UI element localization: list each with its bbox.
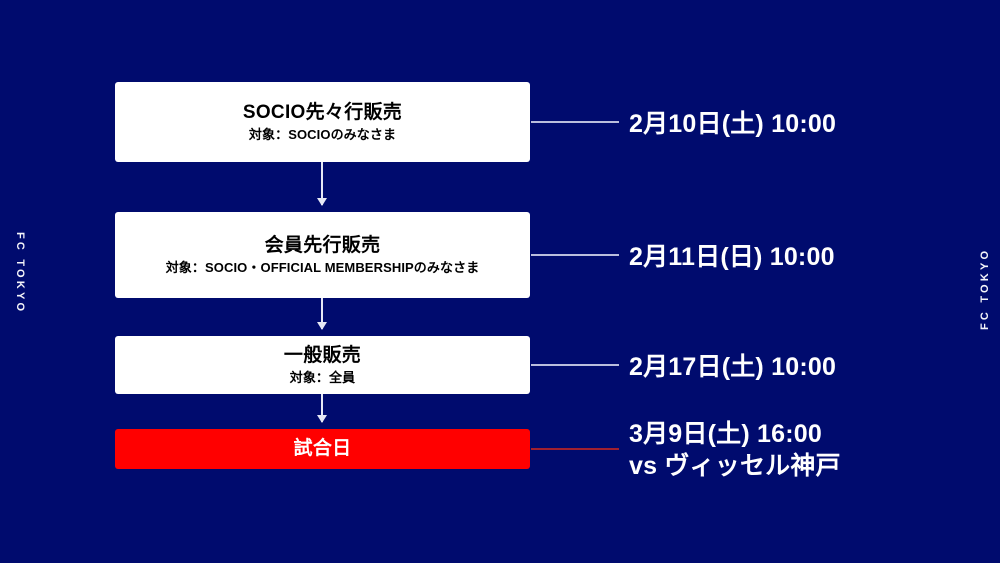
flow-arrow-down-icon: [321, 394, 323, 422]
match-day-datetime: 3月9日(土) 16:00: [629, 420, 822, 448]
step-date-match-day: 3月9日(土) 16:00 vs ヴィッセル神戸: [629, 418, 841, 482]
step-box-match-day: 試合日: [115, 429, 530, 469]
step-box-socio-advance-sale: SOCIO先々行販売 対象：SOCIOのみなさま: [115, 82, 530, 162]
step-subtitle: 対象：SOCIO・OFFICIAL MEMBERSHIPのみなさま: [166, 260, 480, 276]
step-date-general-sale: 2月17日(土) 10:00: [629, 351, 836, 383]
flow-arrow-down-icon: [321, 162, 323, 205]
step-title: 一般販売: [284, 344, 361, 367]
step-subtitle: 対象：SOCIOのみなさま: [249, 127, 396, 143]
step-subtitle: 対象：全員: [290, 370, 356, 386]
brand-wordmark-left: FC TOKYO: [14, 232, 26, 314]
step-title: SOCIO先々行販売: [243, 101, 402, 124]
step-date-socio-advance-sale: 2月10日(土) 10:00: [629, 108, 836, 140]
step-title: 試合日: [294, 437, 352, 460]
brand-wordmark-right: FC TOKYO: [979, 248, 991, 330]
step-date-member-advance-sale: 2月11日(日) 10:00: [629, 241, 835, 273]
ticket-sales-timeline: FC TOKYO FC TOKYO SOCIO先々行販売 対象：SOCIOのみな…: [0, 0, 1000, 563]
step-box-general-sale: 一般販売 対象：全員: [115, 336, 530, 394]
connector-line: [531, 364, 619, 366]
step-title: 会員先行販売: [265, 234, 381, 257]
connector-line-match-day: [531, 448, 619, 450]
connector-line: [531, 121, 619, 123]
step-box-member-advance-sale: 会員先行販売 対象：SOCIO・OFFICIAL MEMBERSHIPのみなさま: [115, 212, 530, 298]
connector-line: [531, 254, 619, 256]
match-day-opponent: vs ヴィッセル神戸: [629, 450, 841, 482]
flow-arrow-down-icon: [321, 298, 323, 329]
